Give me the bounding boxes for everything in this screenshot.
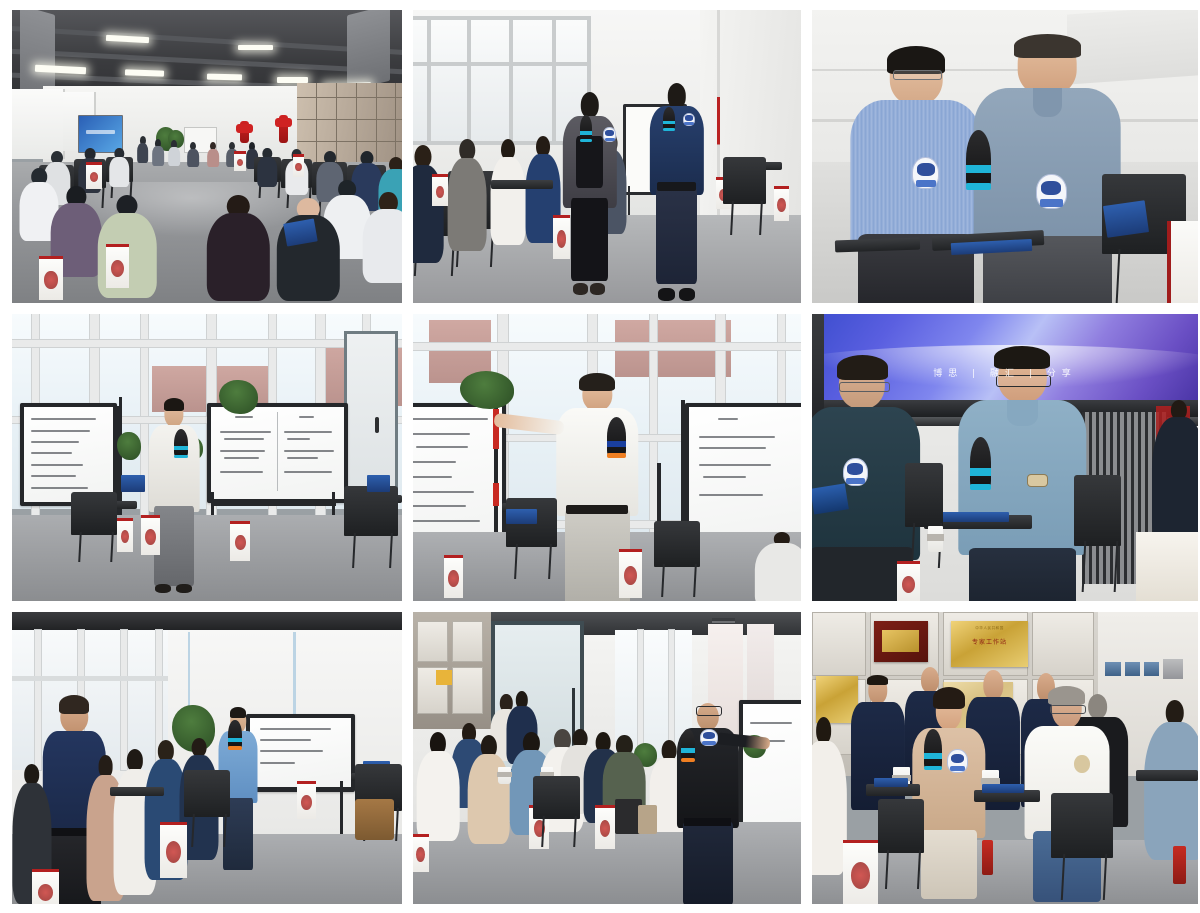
- standing-man: [650, 83, 704, 294]
- handheld-microphone: [970, 437, 991, 489]
- name-badge-left: [912, 157, 939, 189]
- collage-photo-3[interactable]: Close-up of two seated men; the one at l…: [812, 10, 1198, 303]
- plaque-subtitle: 中华人民共和国: [951, 626, 1028, 631]
- collage-photo-1[interactable]: Wide view of a large open classroom with…: [12, 10, 402, 303]
- award-plaque-gold: 中华人民共和国 专家工作站: [951, 621, 1028, 668]
- plaque-title: 专家工作站: [951, 637, 1028, 646]
- microphone: [924, 729, 942, 770]
- collage-photo-9[interactable]: 中华人民共和国 专家工作站: [812, 612, 1198, 904]
- handheld-microphone: [966, 130, 991, 189]
- led-screen-text: 博思 | 融汇 | 分享: [812, 366, 1198, 379]
- collage-photo-5[interactable]: A man in a white short-sleeve shirt poin…: [413, 314, 801, 601]
- whiteboard-right: [207, 403, 348, 503]
- man-right-speaking: [974, 36, 1121, 303]
- whiteboard-right: [685, 403, 801, 543]
- collage-photo-7[interactable]: A man in a light blue shirt speaks into …: [12, 612, 402, 904]
- whiteboard-left: [20, 403, 118, 506]
- photo-collage-grid: Wide view of a large open classroom with…: [0, 0, 1200, 913]
- name-badge-right: [1036, 174, 1067, 209]
- speaker-man: [149, 400, 200, 589]
- award-plaque-red: [874, 621, 928, 662]
- collage-photo-6[interactable]: 博思 | 融汇 | 分享: [812, 314, 1198, 601]
- microphone: [580, 115, 592, 141]
- collage-photo-8[interactable]: A bald man in a black polo holds a micro…: [413, 612, 801, 904]
- collage-photo-2[interactable]: A woman in a patterned jacket speaking i…: [413, 10, 801, 303]
- collage-photo-4[interactable]: A man in a white shirt and grey trousers…: [12, 314, 402, 601]
